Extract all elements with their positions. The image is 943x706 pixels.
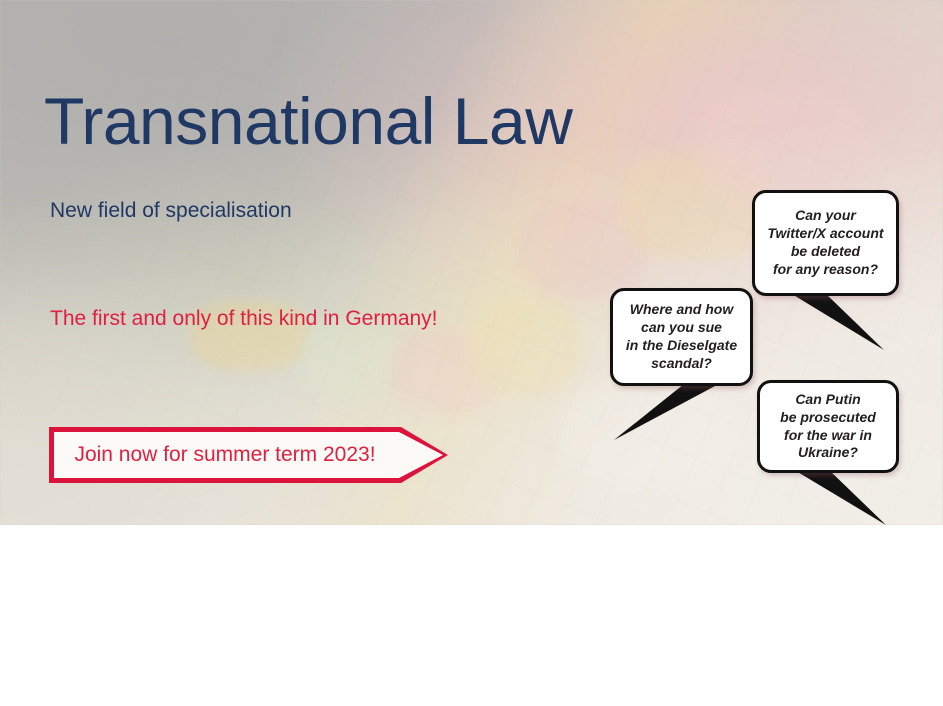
bubble-line: Where and how [630,301,733,317]
page-title: Transnational Law [44,88,572,154]
speech-bubble-putin-text: Can Putin be prosecuted for the war in U… [780,391,876,463]
bubble-line: can you sue [641,319,722,335]
speech-bubble-twitter: Can your Twitter/X account be deleted fo… [752,190,899,296]
bubble-line: be prosecuted [780,409,876,425]
page-white-area [0,525,943,706]
bubble-line: be deleted [791,243,860,259]
speech-bubble-tail-twitter [780,288,890,354]
speech-bubble-putin: Can Putin be prosecuted for the war in U… [757,380,899,473]
promo-slide: Transnational Law New field of specialis… [0,0,943,525]
join-now-banner[interactable]: Join now for summer term 2023! [49,427,448,483]
bubble-line: scandal? [651,355,712,371]
speech-bubble-dieselgate: Where and how can you sue in the Dieselg… [610,288,753,386]
speech-bubble-dieselgate-text: Where and how can you sue in the Dieselg… [626,301,737,373]
bubble-line: for the war in [784,427,872,443]
bubble-line: Ukraine? [798,444,858,460]
claim-text: The first and only of this kind in Germa… [50,307,438,331]
bubble-line: Twitter/X account [767,225,883,241]
bubble-line: in the Dieselgate [626,337,737,353]
bubble-line: Can your [795,207,856,223]
speech-bubble-twitter-text: Can your Twitter/X account be deleted fo… [767,207,883,279]
speech-bubble-tail-putin [786,465,896,525]
speech-bubble-tail-dieselgate [612,378,732,444]
join-now-label: Join now for summer term 2023! [49,427,401,483]
bubble-line: Can Putin [795,391,860,407]
bubble-line: for any reason? [773,261,878,277]
subtitle: New field of specialisation [50,199,292,223]
